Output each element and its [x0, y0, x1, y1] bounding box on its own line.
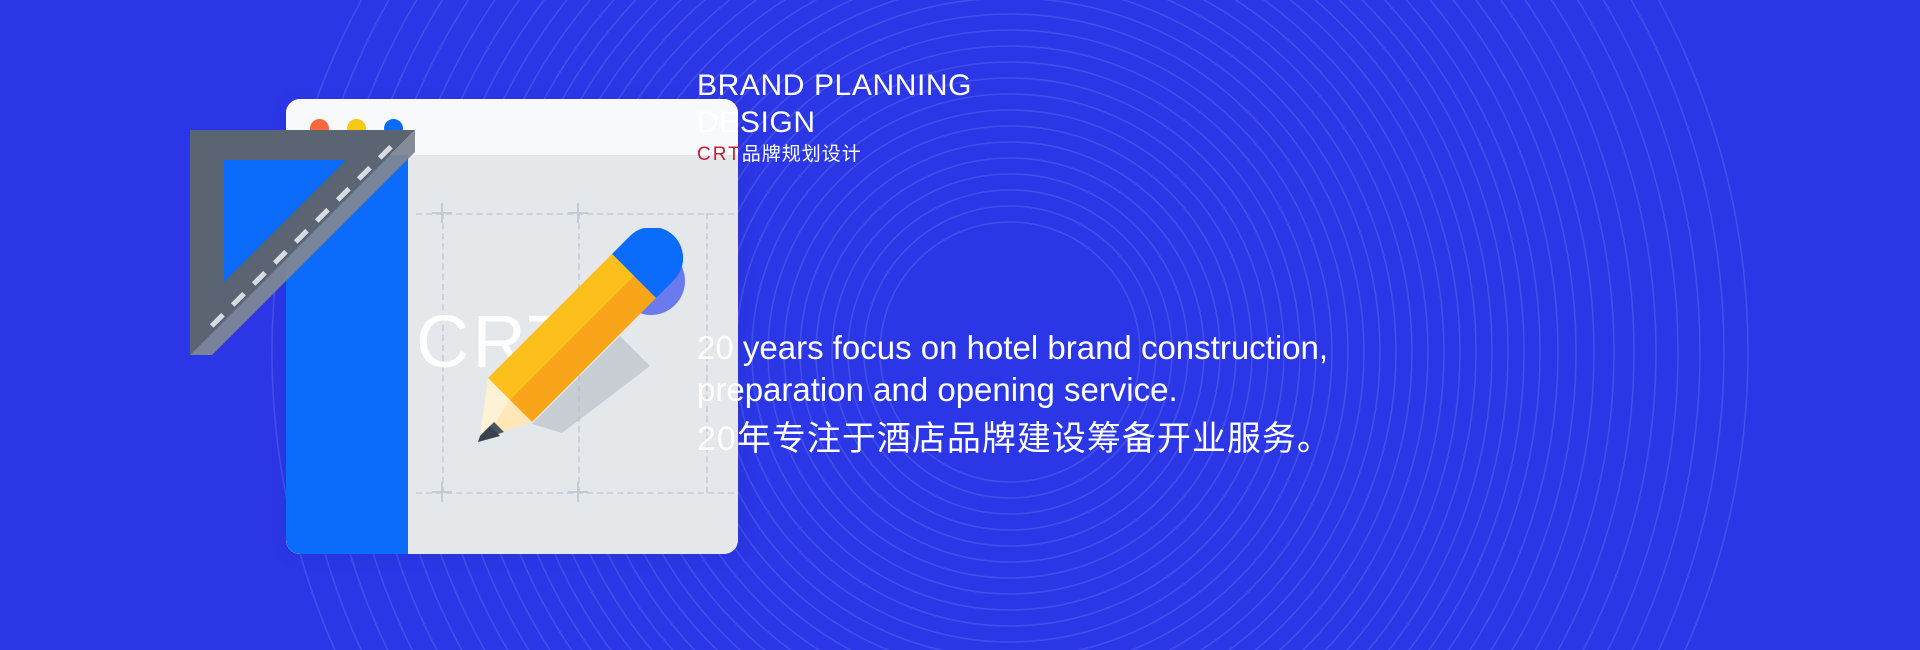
triangle-ruler-icon: [190, 130, 415, 355]
subtitle-brand-crt: CRT: [697, 144, 742, 165]
grid-crosshair-icon: [432, 482, 452, 502]
grid-crosshair-icon: [432, 203, 452, 223]
tagline-english: 20 years focus on hotel brand constructi…: [697, 327, 1397, 411]
heading-brand-planning-design: BRAND PLANNING DESIGN: [697, 68, 1257, 141]
grid-crosshair-icon: [568, 203, 588, 223]
grid-crosshair-icon: [568, 482, 588, 502]
text-column: BRAND PLANNING DESIGN CRT品牌规划设计 20 years…: [697, 0, 1920, 650]
subtitle-chinese: CRT品牌规划设计: [697, 139, 862, 166]
pencil-icon: [470, 228, 685, 443]
brand-banner: CRT: [0, 0, 1920, 650]
subtitle-chinese-text: 品牌规划设计: [742, 144, 862, 165]
tagline-chinese: 20年专注于酒店品牌建设筹备开业服务。: [697, 411, 1332, 460]
